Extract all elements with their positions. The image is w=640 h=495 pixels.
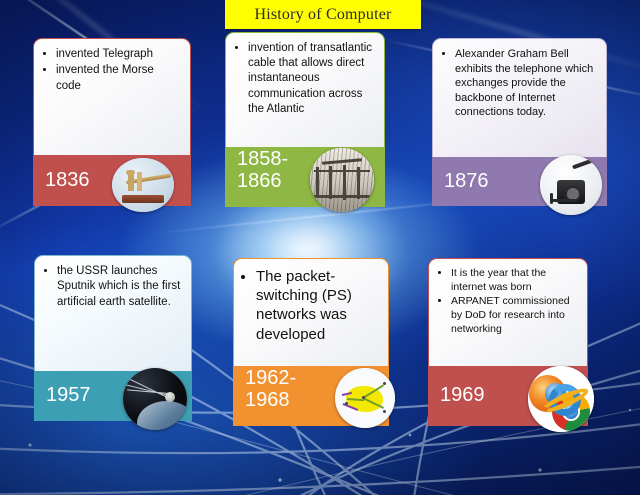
list-item: The packet-switching (PS) networks was d… [256,267,379,344]
list-item: invented Telegraph [56,47,181,62]
card-bullet-list: It is the year that the internet was bor… [438,267,578,336]
card-body: Alexander Graham Bell exhibits the telep… [432,38,607,157]
card-bullet-list: Alexander Graham Bell exhibits the telep… [442,47,597,120]
card-body: the USSR launches Sputnik which is the f… [34,255,192,371]
slide-title-banner: History of Computer [225,0,421,29]
slide-canvas: History of Computer invented Telegraph i… [0,0,640,495]
card-bullet-list: invented Telegraph invented the Morse co… [43,47,181,94]
list-item: the USSR launches Sputnik which is the f… [57,264,182,310]
internet-explorer-icon [543,378,588,423]
transatlantic-cable-engraving [310,148,374,212]
antique-telephone-photo [540,155,602,215]
card-body: It is the year that the internet was bor… [428,258,588,366]
list-item: invented the Morse code [56,63,181,94]
card-body: The packet-switching (PS) networks was d… [233,258,389,366]
list-item: invention of transatlantic cable that al… [248,41,375,117]
year-label: 1858- 1866 [237,149,288,192]
list-item: ARPANET commissioned by DoD for research… [451,295,578,336]
card-bullet-list: invention of transatlantic cable that al… [235,41,375,117]
year-label: 1876 [444,171,489,193]
year-label: 1957 [46,385,91,407]
year-label: 1969 [440,385,485,407]
telegraph-key-photo [112,158,174,212]
year-label: 1962- 1968 [245,368,296,411]
year-label: 1836 [45,170,90,192]
list-item: It is the year that the internet was bor… [451,267,578,294]
web-browser-logos [528,366,594,432]
card-body: invention of transatlantic cable that al… [225,32,385,147]
sputnik-satellite-photo [123,368,187,430]
packet-switching-network-diagram [335,368,395,428]
card-bullet-list: The packet-switching (PS) networks was d… [243,267,379,344]
list-item: Alexander Graham Bell exhibits the telep… [455,47,597,120]
card-body: invented Telegraph invented the Morse co… [33,38,191,155]
page-title: History of Computer [254,6,391,24]
card-bullet-list: the USSR launches Sputnik which is the f… [44,264,182,310]
